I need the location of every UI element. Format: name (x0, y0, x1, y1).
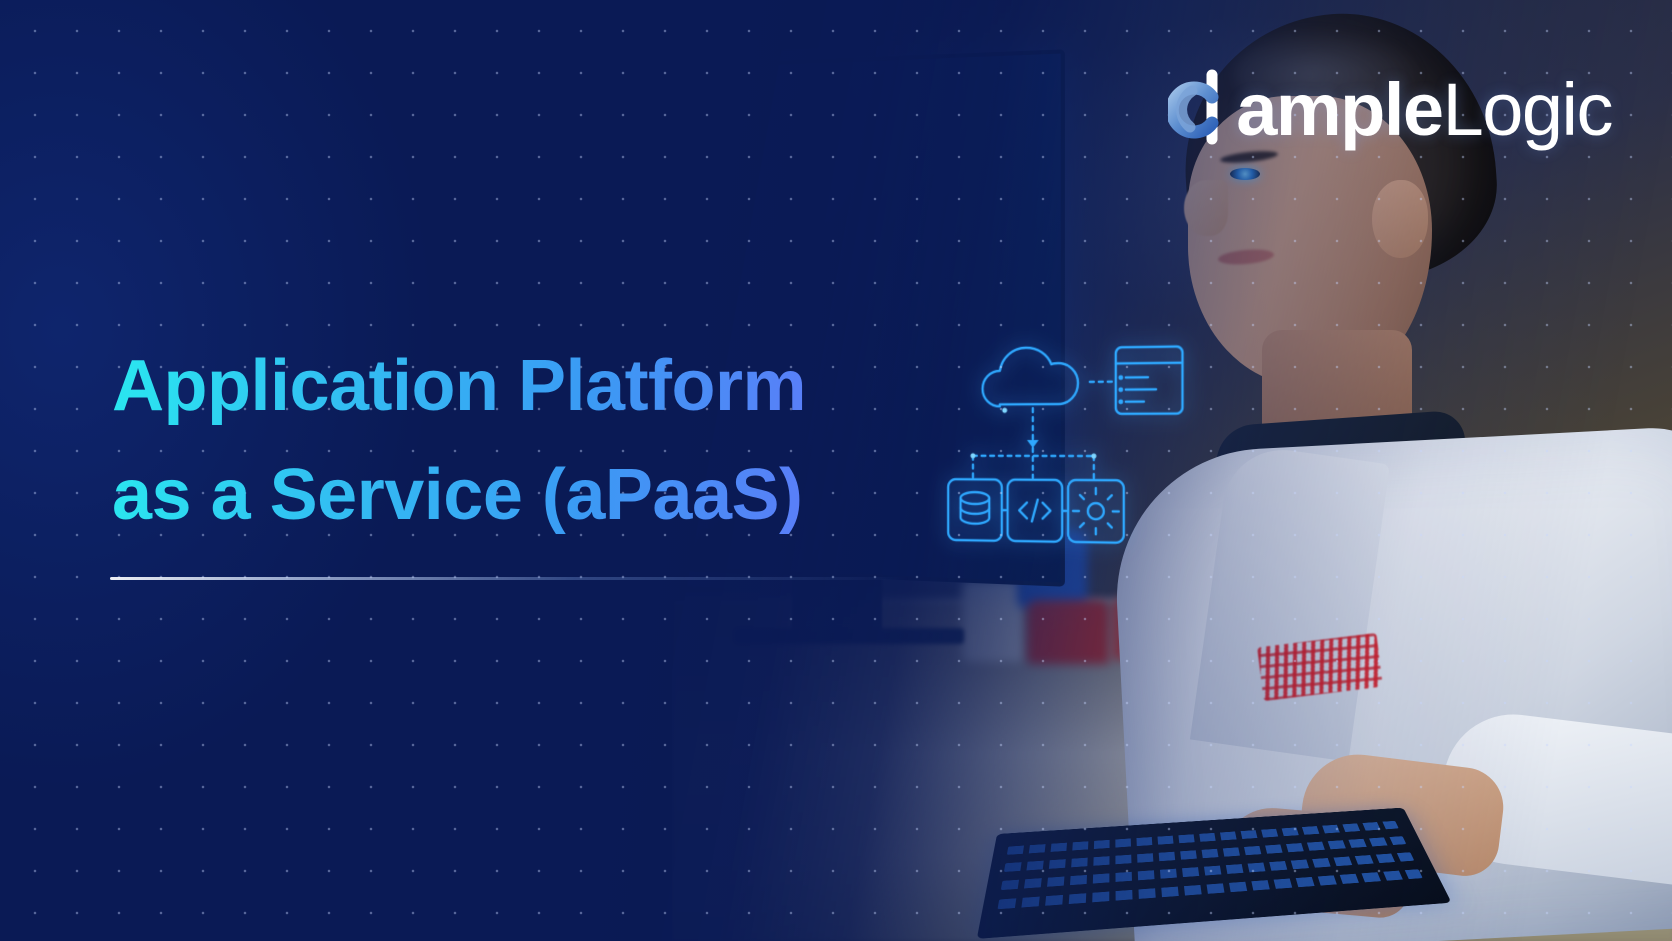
logo-name-bold: ample (1236, 68, 1442, 151)
eye (1230, 168, 1260, 180)
monitor-base (734, 628, 964, 644)
logo-wordmark: ampleLogic (1236, 73, 1612, 147)
keyboard-row (998, 869, 1423, 909)
headline-line-1: Application Platform (112, 346, 806, 426)
logo-name-light: Logic (1443, 68, 1612, 151)
ear (1372, 180, 1428, 258)
nose (1184, 180, 1228, 236)
amplelogic-logo[interactable]: ampleLogic (1168, 62, 1612, 158)
monitor-stand (792, 574, 882, 632)
apaas-hero-banner: ampleLogic Application Platform as a Ser… (0, 0, 1672, 941)
page-title: Application Platform as a Service (aPaaS… (112, 332, 1012, 551)
title-divider (110, 577, 910, 580)
headline-line-2: as a Service (aPaaS) (112, 441, 1012, 550)
ample-swirl-a-icon (1168, 69, 1242, 151)
